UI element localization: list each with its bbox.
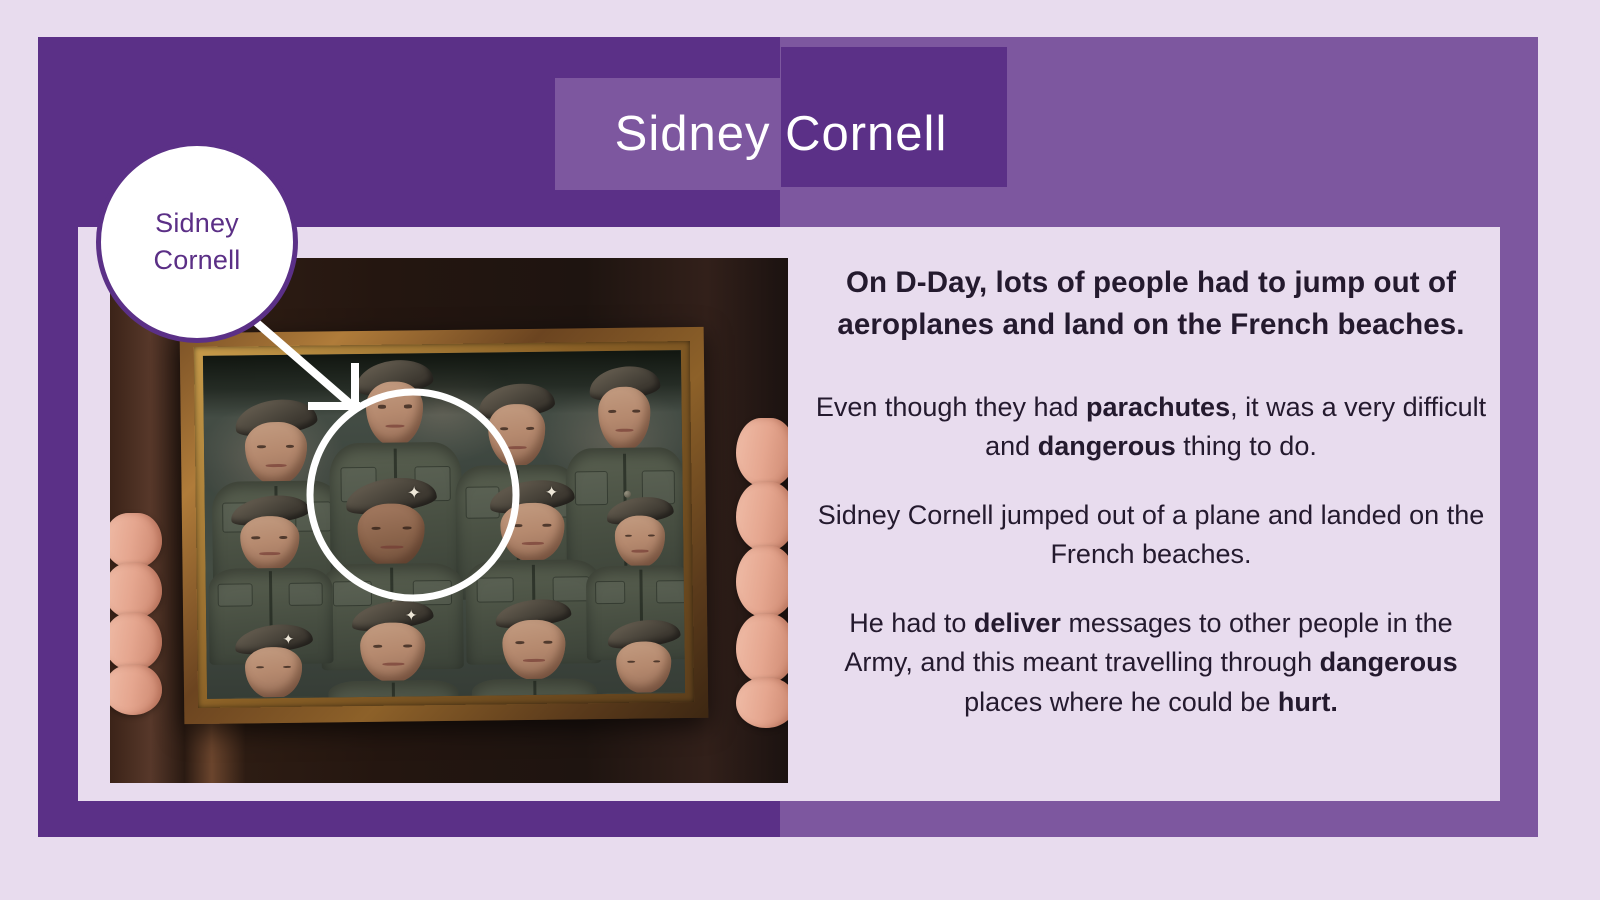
- picture-frame: ✦: [180, 327, 709, 724]
- callout-line-2: Cornell: [154, 242, 241, 279]
- paragraph-jumped: Sidney Cornell jumped out of a plane and…: [815, 496, 1487, 574]
- slide-root: Sidney Cornell: [0, 0, 1600, 900]
- paragraph-lead: On D-Day, lots of people had to jump out…: [815, 262, 1487, 346]
- paragraph-messages: He had to deliver messages to other peop…: [815, 604, 1487, 721]
- page-title: Sidney Cornell: [555, 78, 1007, 190]
- photo-plate: ✦: [203, 350, 685, 699]
- soldier-figure: [589, 617, 686, 698]
- soldier-figure: [474, 598, 595, 699]
- soldier-figure: ✦: [216, 622, 332, 699]
- paragraph-parachutes: Even though they had parachutes, it was …: [815, 388, 1487, 466]
- soldier-figure: ✦: [330, 600, 456, 699]
- body-text-column: On D-Day, lots of people had to jump out…: [815, 262, 1487, 722]
- frame-bevel: ✦: [194, 341, 694, 708]
- callout-line-1: Sidney: [155, 205, 239, 242]
- callout-bubble: Sidney Cornell: [96, 141, 298, 343]
- soldier-group-photo: ✦: [203, 350, 685, 699]
